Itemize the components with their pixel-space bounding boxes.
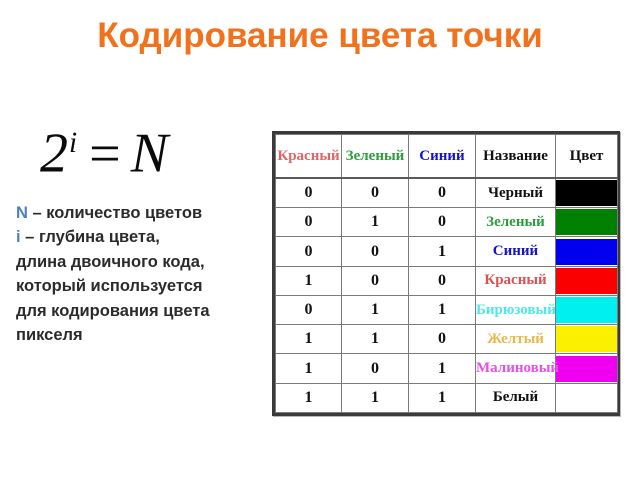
table-row: 101Малиновый (276, 354, 618, 383)
bit-cell-r: 1 (276, 383, 342, 412)
table-row: 010Зеленый (276, 208, 618, 237)
formula-equals-sign: = (89, 123, 121, 185)
body-text-line: для кодирования цвета (16, 299, 273, 323)
color-swatch (556, 297, 617, 323)
body-text-line: i – глубина цвета, (16, 225, 273, 249)
body-text-line: пикселя (16, 323, 273, 347)
color-name-cell: Белый (476, 383, 556, 412)
bit-cell-b: 0 (409, 208, 476, 237)
rgb-table: Красный Зеленый Синий Название Цвет 000Ч… (275, 134, 618, 413)
color-name-cell: Черный (476, 178, 556, 208)
column-header-green: Зеленый (342, 135, 409, 179)
bit-cell-g: 1 (342, 325, 409, 354)
body-text-line: N – количество цветов (16, 201, 273, 225)
body-text-span: который используется (16, 277, 203, 295)
color-swatch (556, 385, 617, 411)
formula-exponent: i (69, 127, 77, 159)
body-text-line: длина двоичного кода, (16, 250, 273, 274)
bit-cell-g: 1 (342, 383, 409, 412)
bit-cell-r: 0 (276, 178, 342, 208)
formula-base: 2 (40, 123, 68, 185)
variable-symbol: N (16, 204, 28, 222)
color-swatch-cell (556, 354, 618, 383)
bit-cell-g: 0 (342, 266, 409, 295)
table-row: 000Черный (276, 178, 618, 208)
bit-cell-r: 0 (276, 295, 342, 324)
color-name-cell: Зеленый (476, 208, 556, 237)
color-swatch-cell (556, 325, 618, 354)
slide-canvas: Кодирование цвета точки 2i=N N – количес… (0, 0, 640, 480)
page-title: Кодирование цвета точки (40, 16, 600, 56)
table-header-row: Красный Зеленый Синий Название Цвет (276, 135, 618, 179)
bit-cell-b: 0 (409, 325, 476, 354)
bit-cell-b: 0 (409, 178, 476, 208)
color-swatch (556, 239, 617, 265)
formula-2-pow-i-equals-n: 2i=N (40, 112, 168, 185)
color-swatch-cell (556, 178, 618, 208)
body-text-span: – глубина цвета, (21, 228, 160, 246)
bit-cell-r: 1 (276, 354, 342, 383)
color-swatch (556, 326, 617, 352)
column-header-blue: Синий (409, 135, 476, 179)
column-header-red: Красный (276, 135, 342, 179)
color-swatch-cell (556, 266, 618, 295)
bit-cell-g: 0 (342, 237, 409, 266)
bit-cell-b: 1 (409, 237, 476, 266)
color-swatch-cell (556, 208, 618, 237)
bit-cell-r: 0 (276, 208, 342, 237)
bit-cell-b: 1 (409, 354, 476, 383)
color-name-cell: Желтый (476, 325, 556, 354)
color-swatch (556, 356, 617, 382)
table-header-row-group: Красный Зеленый Синий Название Цвет (276, 135, 618, 179)
color-name-cell: Синий (476, 237, 556, 266)
color-swatch-cell (556, 237, 618, 266)
table-row: 110Желтый (276, 325, 618, 354)
bit-cell-g: 1 (342, 208, 409, 237)
color-name-cell: Малиновый (476, 354, 556, 383)
bit-cell-r: 1 (276, 325, 342, 354)
bit-cell-g: 0 (342, 354, 409, 383)
bit-cell-g: 1 (342, 295, 409, 324)
color-swatch-cell (556, 383, 618, 412)
bit-cell-g: 0 (342, 178, 409, 208)
color-name-cell: Красный (476, 266, 556, 295)
color-swatch (556, 209, 617, 235)
table-row: 100Красный (276, 266, 618, 295)
rgb-color-table: Красный Зеленый Синий Название Цвет 000Ч… (272, 131, 620, 416)
column-header-name: Название (476, 135, 556, 179)
bit-cell-b: 1 (409, 295, 476, 324)
color-swatch-cell (556, 295, 618, 324)
table-row: 011Бирюзовый (276, 295, 618, 324)
color-name-cell: Бирюзовый (476, 295, 556, 324)
bit-cell-b: 0 (409, 266, 476, 295)
table-row: 001Синий (276, 237, 618, 266)
formula-result: N (131, 123, 168, 185)
color-swatch (556, 268, 617, 294)
body-text-span: – количество цветов (28, 204, 202, 222)
bit-cell-b: 1 (409, 383, 476, 412)
table-row: 111Белый (276, 383, 618, 412)
body-text-span: для кодирования цвета (16, 302, 210, 320)
column-header-color: Цвет (556, 135, 618, 179)
body-text-span: пикселя (16, 326, 83, 344)
body-text-block: N – количество цветовi – глубина цвета,д… (16, 201, 273, 347)
body-text-line: который используется (16, 274, 273, 298)
color-swatch (556, 180, 617, 206)
body-text-span: длина двоичного кода, (16, 253, 205, 271)
bit-cell-r: 0 (276, 237, 342, 266)
table-body: 000Черный010Зеленый001Синий100Красный011… (276, 178, 618, 413)
bit-cell-r: 1 (276, 266, 342, 295)
